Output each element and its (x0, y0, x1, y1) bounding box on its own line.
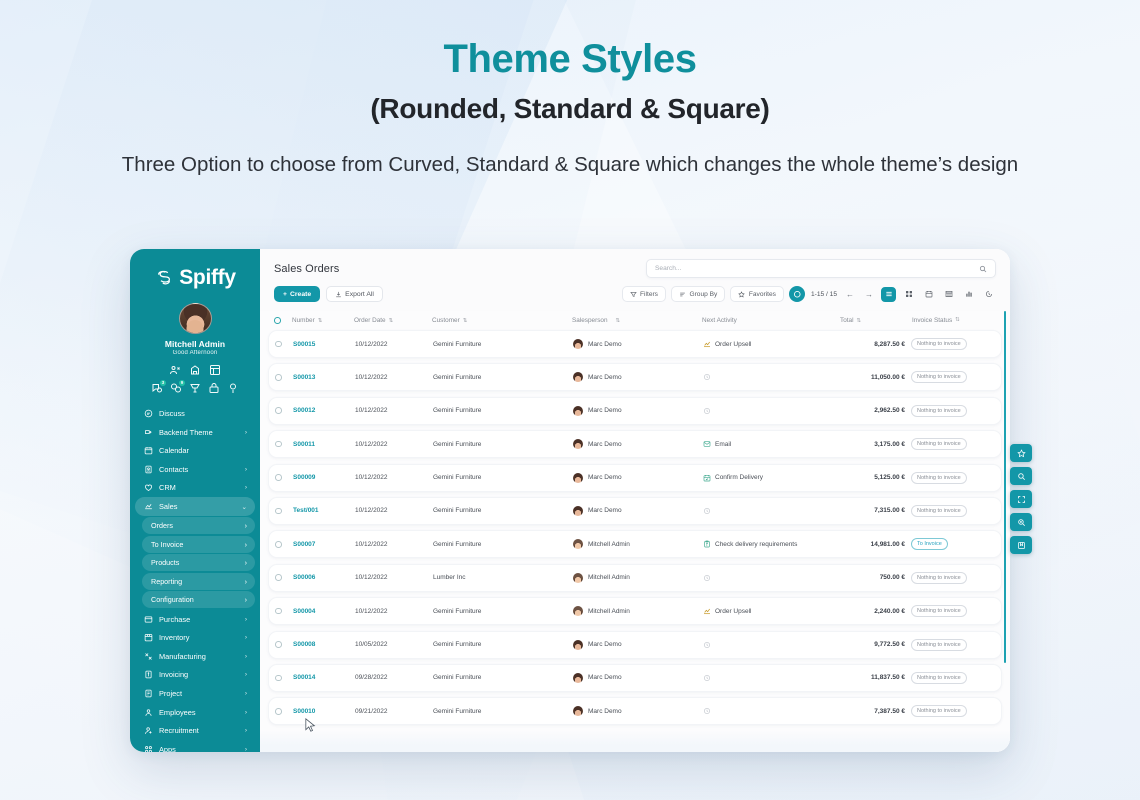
search-icon[interactable] (1010, 467, 1032, 485)
cell-order-date: 10/05/2022 (355, 641, 433, 648)
cell-next-activity[interactable] (703, 373, 839, 381)
cell-next-activity[interactable] (703, 674, 839, 682)
spiffy-logo-icon (154, 268, 174, 288)
chevron-right-icon: › (245, 634, 247, 641)
row-checkbox[interactable] (275, 341, 282, 348)
cell-number[interactable]: S00007 (293, 541, 355, 548)
favorites-label: Favorites (749, 291, 776, 298)
export-all-button[interactable]: Export All (326, 286, 383, 302)
cell-next-activity[interactable] (703, 407, 839, 415)
sidebar-item-label: Invoicing (159, 670, 239, 679)
cell-customer: Gemini Furniture (433, 474, 573, 481)
table-header-row: Number⇅ Order Date⇅ Customer⇅ Salesperso… (268, 311, 1002, 330)
chevron-right-icon: › (245, 540, 247, 549)
row-checkbox[interactable] (275, 574, 282, 581)
sidebar-item-label: Sales (159, 502, 236, 511)
status-badge: Nothing to invoice (911, 338, 967, 350)
activity-label: Check delivery requirements (715, 541, 797, 548)
chevron-right-icon: › (245, 653, 247, 660)
th-number[interactable]: Number⇅ (292, 317, 354, 324)
chat-bubble-icon[interactable]: 3 (151, 382, 163, 394)
cell-total: 7,315.00 € (839, 507, 911, 514)
kanban-view-icon[interactable] (901, 287, 916, 302)
sidebar-item-apps[interactable]: Apps › (135, 740, 255, 752)
chevron-right-icon: › (245, 595, 247, 604)
salesperson-name: Mitchell Admin (588, 608, 630, 615)
cell-order-date: 10/12/2022 (355, 374, 433, 381)
cell-number[interactable]: Test/001 (293, 507, 355, 514)
fullscreen-icon[interactable] (1010, 490, 1032, 508)
calendar-icon (144, 446, 153, 455)
sidebar-item-sales[interactable]: Sales ⌄ (135, 497, 255, 516)
th-order-date[interactable]: Order Date⇅ (354, 317, 432, 324)
row-checkbox[interactable] (275, 675, 282, 682)
status-badge: Nothing to invoice (911, 505, 967, 517)
cell-number[interactable]: S00010 (293, 708, 355, 715)
row-checkbox[interactable] (275, 641, 282, 648)
status-badge: Nothing to invoice (911, 705, 967, 717)
user-name: Mitchell Admin (130, 339, 260, 349)
list-lines-icon (679, 291, 686, 298)
lightbulb-icon[interactable] (227, 382, 239, 394)
chevron-right-icon: › (245, 558, 247, 567)
avatar[interactable] (179, 303, 212, 334)
cell-total: 11,837.50 € (839, 674, 911, 681)
salesperson-name: Mitchell Admin (588, 574, 630, 581)
breadcrumb: Sales Orders (274, 263, 339, 275)
search-input[interactable]: Search... (646, 259, 996, 278)
row-checkbox[interactable] (275, 708, 282, 715)
filters-label: Filters (640, 291, 658, 298)
cell-total: 9,772.50 € (839, 641, 911, 648)
cell-next-activity[interactable]: Order Upsell (703, 607, 839, 615)
clock-grey-icon (703, 674, 711, 682)
cell-number[interactable]: S00006 (293, 574, 355, 581)
sidebar-quick-icons-row-1 (130, 364, 260, 376)
chevron-right-icon: › (245, 746, 247, 752)
hero-section: Theme Styles (Rounded, Standard & Square… (0, 0, 1140, 179)
row-checkbox[interactable] (275, 441, 282, 448)
download-icon (335, 291, 342, 298)
clock-grey-icon (703, 574, 711, 582)
cell-salesperson: Marc Demo (573, 439, 703, 449)
status-badge: Nothing to invoice (911, 472, 967, 484)
cell-next-activity[interactable] (703, 641, 839, 649)
select-all-checkbox[interactable] (274, 317, 281, 324)
cell-customer: Gemini Furniture (433, 441, 573, 448)
sidebar-item-backend-theme[interactable]: Backend Theme › (135, 423, 255, 442)
cell-number[interactable]: S00012 (293, 407, 355, 414)
salesperson-name: Marc Demo (588, 441, 622, 448)
brand-logo[interactable]: Spiffy (130, 261, 260, 298)
clipboard-icon (703, 540, 711, 548)
salesperson-name: Marc Demo (588, 674, 622, 681)
email-icon (703, 440, 711, 448)
avatar (573, 506, 583, 516)
row-checkbox[interactable] (275, 474, 282, 481)
chevron-right-icon: › (245, 429, 247, 436)
book-icon[interactable] (1010, 536, 1032, 554)
sidebar-subitem-label: Configuration (151, 595, 194, 604)
cell-customer: Gemini Furniture (433, 608, 573, 615)
th-next-activity[interactable]: Next Activity (702, 317, 840, 324)
chevron-right-icon: › (245, 709, 247, 716)
salesperson-name: Marc Demo (588, 507, 622, 514)
filter-funnel-icon (630, 291, 637, 298)
sidebar-item-label: Manufacturing (159, 652, 239, 661)
cell-next-activity[interactable]: Check delivery requirements (703, 540, 839, 548)
filters-button[interactable]: Filters (622, 286, 666, 302)
sidebar-item-label: Project (159, 689, 239, 698)
sidebar-item-label: Calendar (159, 446, 247, 455)
sidebar-subitem-orders[interactable]: Orders › (142, 517, 255, 534)
salesperson-name: Marc Demo (588, 407, 622, 414)
status-badge: Nothing to invoice (911, 639, 967, 651)
th-customer[interactable]: Customer⇅ (432, 317, 572, 324)
pager-count: 1-15 / 15 (810, 291, 838, 298)
sidebar-item-label: Recruitment (159, 726, 239, 735)
salesperson-name: Mitchell Admin (588, 541, 630, 548)
app-screenshot-window: Spiffy Mitchell Admin Good Afternoon 3 9 (130, 249, 1010, 752)
avatar (573, 473, 583, 483)
status-badge: Nothing to invoice (911, 605, 967, 617)
sidebar: Spiffy Mitchell Admin Good Afternoon 3 9 (130, 249, 260, 752)
sidebar-item-label: Employees (159, 708, 239, 717)
sidebar-subitem-configuration[interactable]: Configuration › (142, 591, 255, 608)
sidebar-subitem-label: Reporting (151, 577, 182, 586)
clock-grey-icon (703, 641, 711, 649)
chevron-down-icon: ⌄ (242, 503, 247, 511)
row-checkbox[interactable] (275, 508, 282, 515)
avatar (573, 406, 583, 416)
activity-label: Order Upsell (715, 341, 751, 348)
sidebar-subitem-reporting[interactable]: Reporting › (142, 573, 255, 590)
avatar (573, 339, 583, 349)
avatar (573, 706, 583, 716)
main-content: Sales Orders Search... + Create (260, 249, 1010, 752)
arrow-right-icon[interactable]: → (862, 287, 876, 301)
recruitment-icon (144, 726, 153, 735)
view-controls: Filters Group By Favorites (622, 286, 996, 302)
status-badge: Nothing to invoice (911, 405, 967, 417)
star-icon[interactable] (1010, 444, 1032, 462)
chevron-right-icon: › (245, 616, 247, 623)
cell-customer: Gemini Furniture (433, 507, 573, 514)
contacts-icon (144, 465, 153, 474)
chevron-right-icon: › (245, 577, 247, 586)
chevron-right-icon: › (245, 521, 247, 530)
sidebar-item-label: Purchase (159, 615, 239, 624)
status-badge: Nothing to invoice (911, 572, 967, 584)
activity-label: Confirm Delivery (715, 474, 763, 481)
table-row[interactable]: S0001510/12/2022Gemini FurnitureMarc Dem… (268, 330, 1002, 358)
cell-next-activity[interactable] (703, 507, 839, 515)
list-view-icon[interactable] (881, 287, 896, 302)
create-label: Create (290, 291, 311, 298)
table-row[interactable]: S0000410/12/2022Gemini FurnitureMitchell… (268, 597, 1002, 625)
cell-total: 2,240.00 € (839, 608, 911, 615)
table-row[interactable]: S0000810/05/2022Gemini FurnitureMarc Dem… (268, 631, 1002, 659)
cell-salesperson: Marc Demo (573, 706, 703, 716)
activity-view-icon[interactable] (981, 287, 996, 302)
chevron-right-icon: › (245, 690, 247, 697)
avatar (573, 640, 583, 650)
group-by-label: Group By (689, 291, 717, 298)
table-row[interactable]: S0000910/12/2022Gemini FurnitureMarc Dem… (268, 464, 1002, 492)
search-icon[interactable] (979, 265, 987, 273)
cell-number[interactable]: S00014 (293, 674, 355, 681)
cell-order-date: 10/12/2022 (355, 574, 433, 581)
sidebar-subitem-to-invoice[interactable]: To Invoice › (142, 536, 255, 553)
cell-customer: Gemini Furniture (433, 641, 573, 648)
avatar (573, 606, 583, 616)
purchase-icon (144, 615, 153, 624)
apps-icon (144, 745, 153, 752)
cell-customer: Gemini Furniture (433, 541, 573, 548)
th-invoice-status[interactable]: Invoice Status⇅ (912, 317, 996, 324)
cell-total: 2,962.50 € (839, 407, 911, 414)
chevron-right-icon: › (245, 466, 247, 473)
user-greeting: Good Afternoon (130, 350, 260, 356)
salesperson-name: Marc Demo (588, 641, 622, 648)
cell-salesperson: Marc Demo (573, 473, 703, 483)
chevron-right-icon: › (245, 671, 247, 678)
cell-next-activity[interactable] (703, 574, 839, 582)
th-salesperson[interactable]: Salesperson⇅ (572, 317, 702, 324)
cell-order-date: 10/12/2022 (355, 507, 433, 514)
sidebar-item-label: Apps (159, 745, 239, 752)
graph-view-icon[interactable] (961, 287, 976, 302)
status-badge: Nothing to invoice (911, 672, 967, 684)
table-row[interactable]: Test/00110/12/2022Gemini FurnitureMarc D… (268, 497, 1002, 525)
cell-salesperson: Mitchell Admin (573, 573, 703, 583)
cell-customer: Gemini Furniture (433, 674, 573, 681)
sidebar-item-employees[interactable]: Employees › (135, 703, 255, 722)
sidebar-item-calendar[interactable]: Calendar (135, 441, 255, 460)
table-row[interactable]: S0001110/12/2022Gemini FurnitureMarc Dem… (268, 430, 1002, 458)
cell-salesperson: Marc Demo (573, 506, 703, 516)
cell-order-date: 09/21/2022 (355, 708, 433, 715)
cell-number[interactable]: S00013 (293, 374, 355, 381)
row-checkbox[interactable] (275, 407, 282, 414)
status-badge: To Invoice (911, 538, 948, 550)
salesperson-name: Marc Demo (588, 708, 622, 715)
cell-order-date: 10/12/2022 (355, 608, 433, 615)
cell-next-activity[interactable]: Email (703, 440, 839, 448)
sidebar-item-label: Inventory (159, 633, 239, 642)
row-checkbox[interactable] (275, 608, 282, 615)
calendar-check-icon (703, 474, 711, 482)
group-by-button[interactable]: Group By (671, 286, 725, 302)
chevron-right-icon: › (245, 727, 247, 734)
cell-total: 14,981.00 € (839, 541, 911, 548)
clock-grey-icon (703, 373, 711, 381)
cell-total: 7,387.50 € (839, 708, 911, 715)
palette-icon (144, 428, 153, 437)
cell-total: 750.00 € (839, 574, 911, 581)
crm-heart-icon (144, 483, 153, 492)
table-body: S0001510/12/2022Gemini FurnitureMarc Dem… (268, 330, 1002, 725)
sidebar-item-manufacturing[interactable]: Manufacturing › (135, 647, 255, 666)
clock-icon[interactable] (789, 286, 805, 302)
discuss-icon (144, 409, 153, 418)
chevron-right-icon: › (245, 484, 247, 491)
row-checkbox[interactable] (275, 374, 282, 381)
avatar (573, 673, 583, 683)
cell-salesperson: Marc Demo (573, 673, 703, 683)
avatar (573, 573, 583, 583)
toolbar: Sales Orders Search... + Create (260, 249, 1010, 311)
page-description: Three Option to choose from Curved, Stan… (0, 151, 1140, 179)
plus-icon: + (283, 291, 287, 298)
cell-order-date: 10/12/2022 (355, 474, 433, 481)
cell-next-activity[interactable]: Confirm Delivery (703, 474, 839, 482)
cell-order-date: 10/12/2022 (355, 541, 433, 548)
cell-next-activity[interactable] (703, 707, 839, 715)
cell-next-activity[interactable]: Order Upsell (703, 340, 839, 348)
export-label: Export All (345, 291, 374, 298)
invoicing-icon (144, 670, 153, 679)
cell-order-date: 09/28/2022 (355, 674, 433, 681)
employees-icon (144, 708, 153, 717)
sidebar-subitem-products[interactable]: Products › (142, 554, 255, 571)
table-row[interactable]: S0000610/12/2022Lumber IncMitchell Admin… (268, 564, 1002, 592)
sidebar-nav: Discuss Backend Theme › Calendar Contact… (130, 404, 260, 752)
clock-grey-icon (703, 407, 711, 415)
megaphone-icon[interactable] (189, 382, 201, 394)
cell-salesperson: Mitchell Admin (573, 606, 703, 616)
lock-icon[interactable] (208, 382, 220, 394)
cell-number[interactable]: S00009 (293, 474, 355, 481)
sidebar-item-recruitment[interactable]: Recruitment › (135, 721, 255, 740)
cell-salesperson: Marc Demo (573, 640, 703, 650)
grid-apps-icon[interactable] (209, 364, 221, 376)
pivot-view-icon[interactable] (941, 287, 956, 302)
zoom-in-icon[interactable] (1010, 513, 1032, 531)
sidebar-item-purchase[interactable]: Purchase › (135, 610, 255, 629)
scrollbar[interactable] (1004, 311, 1006, 663)
chat-badge: 3 (160, 380, 166, 386)
table-row[interactable]: S0001310/12/2022Gemini FurnitureMarc Dem… (268, 363, 1002, 391)
cell-number[interactable]: S00015 (293, 341, 355, 348)
cell-number[interactable]: S00008 (293, 641, 355, 648)
status-badge: Nothing to invoice (911, 438, 967, 450)
sidebar-item-crm[interactable]: CRM › (135, 479, 255, 498)
cell-total: 11,050.00 € (839, 374, 911, 381)
sidebar-item-inventory[interactable]: Inventory › (135, 628, 255, 647)
cell-customer: Gemini Furniture (433, 708, 573, 715)
page-title: Theme Styles (0, 36, 1140, 83)
cell-order-date: 10/12/2022 (355, 341, 433, 348)
activity-label: Email (715, 441, 731, 448)
cell-salesperson: Marc Demo (573, 406, 703, 416)
sidebar-item-label: Backend Theme (159, 428, 239, 437)
cell-order-date: 10/12/2022 (355, 407, 433, 414)
cell-number[interactable]: S00011 (293, 441, 355, 448)
cell-customer: Lumber Inc (433, 574, 573, 581)
inventory-icon (144, 633, 153, 642)
sidebar-subitem-label: Products (151, 558, 179, 567)
cell-salesperson: Marc Demo (573, 339, 703, 349)
avatar (573, 372, 583, 382)
cell-salesperson: Marc Demo (573, 372, 703, 382)
table-row[interactable]: S0000710/12/2022Gemini FurnitureMitchell… (268, 530, 1002, 558)
table-row[interactable]: S0001210/12/2022Gemini FurnitureMarc Dem… (268, 397, 1002, 425)
row-checkbox[interactable] (275, 541, 282, 548)
floating-toolbar (1010, 444, 1032, 554)
calendar-view-icon[interactable] (921, 287, 936, 302)
chart-up-icon (703, 340, 711, 348)
sidebar-subitem-label: To Invoice (151, 540, 183, 549)
cell-customer: Gemini Furniture (433, 407, 573, 414)
sidebar-item-project[interactable]: Project › (135, 684, 255, 703)
orders-table: Number⇅ Order Date⇅ Customer⇅ Salesperso… (260, 311, 1010, 752)
cell-salesperson: Mitchell Admin (573, 539, 703, 549)
sidebar-quick-icons-row-2: 3 9 (130, 382, 260, 404)
activity-label: Order Upsell (715, 608, 751, 615)
salesperson-name: Marc Demo (588, 474, 622, 481)
sidebar-item-contacts[interactable]: Contacts › (135, 460, 255, 479)
clock-grey-icon (703, 707, 711, 715)
sidebar-item-label: Discuss (159, 409, 247, 418)
cell-total: 3,175.00 € (839, 441, 911, 448)
cell-total: 5,125.00 € (839, 474, 911, 481)
salesperson-name: Marc Demo (588, 374, 622, 381)
project-icon (144, 689, 153, 698)
clock-grey-icon (703, 507, 711, 515)
sidebar-item-invoicing[interactable]: Invoicing › (135, 666, 255, 685)
cell-number[interactable]: S00004 (293, 608, 355, 615)
sidebar-item-label: CRM (159, 483, 239, 492)
sales-chart-icon (144, 502, 153, 511)
favorites-button[interactable]: Favorites (730, 286, 784, 302)
table-row[interactable]: S0001009/21/2022Gemini FurnitureMarc Dem… (268, 697, 1002, 725)
users-icon[interactable] (169, 364, 181, 376)
status-badge: Nothing to invoice (911, 371, 967, 383)
cell-customer: Gemini Furniture (433, 374, 573, 381)
message-badge: 9 (179, 380, 185, 386)
page-subtitle: (Rounded, Standard & Square) (0, 93, 1140, 125)
sidebar-item-label: Contacts (159, 465, 239, 474)
avatar (573, 539, 583, 549)
manufacturing-icon (144, 652, 153, 661)
search-placeholder: Search... (655, 265, 979, 272)
th-total[interactable]: Total⇅ (840, 317, 912, 324)
cell-customer: Gemini Furniture (433, 341, 573, 348)
table-row[interactable]: S0001409/28/2022Gemini FurnitureMarc Dem… (268, 664, 1002, 692)
chart-up-icon (703, 607, 711, 615)
cell-total: 8,287.50 € (839, 341, 911, 348)
brand-name: Spiffy (179, 266, 236, 290)
cell-order-date: 10/12/2022 (355, 441, 433, 448)
sidebar-subitem-label: Orders (151, 521, 173, 530)
message-icon[interactable]: 9 (170, 382, 182, 394)
star-icon (738, 291, 745, 298)
sidebar-item-discuss[interactable]: Discuss (135, 404, 255, 423)
salesperson-name: Marc Demo (588, 341, 622, 348)
arrow-left-icon[interactable]: ← (843, 287, 857, 301)
bell-outline-icon[interactable] (189, 364, 201, 376)
avatar (573, 439, 583, 449)
create-button[interactable]: + Create (274, 286, 320, 302)
